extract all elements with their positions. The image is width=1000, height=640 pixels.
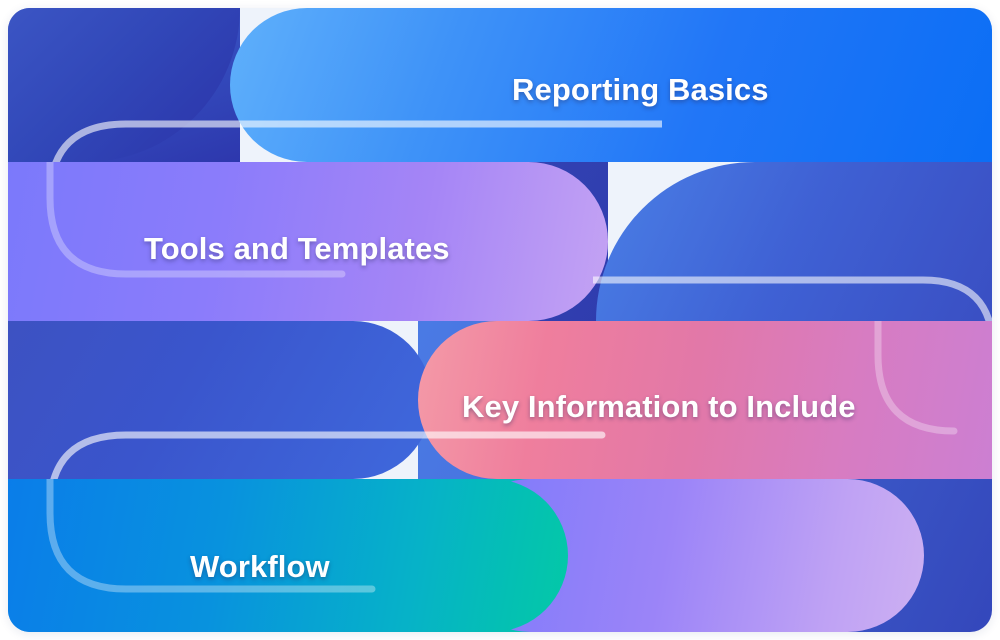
slide-card: Reporting Basics Tools and Templates Key… — [8, 8, 992, 632]
slide-canvas: Reporting Basics Tools and Templates Key… — [0, 0, 1000, 640]
section-band-workflow[interactable] — [8, 479, 992, 632]
section-band-reporting-basics[interactable] — [8, 8, 992, 162]
section-label-reporting-basics: Reporting Basics — [512, 72, 769, 108]
section-label-tools-and-templates: Tools and Templates — [144, 231, 450, 267]
section-label-workflow: Workflow — [190, 549, 330, 585]
band-2-right-background — [596, 162, 992, 321]
band-3-left-block — [8, 321, 432, 479]
section-label-key-information-to-include: Key Information to Include — [462, 389, 856, 425]
